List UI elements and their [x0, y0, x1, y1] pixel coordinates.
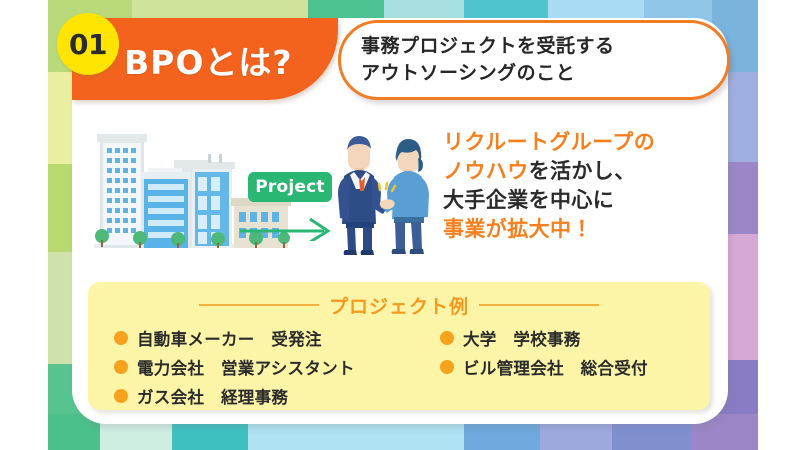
examples-right-column: 大学 学校事務 ビル管理会社 総合受付	[440, 324, 702, 382]
heading-rule-left	[199, 304, 319, 306]
list-item-label: 自動車メーカー 受発注	[137, 326, 322, 350]
paragraph-line-1: リクルートグループの	[443, 128, 721, 157]
right-arrow-icon	[238, 215, 338, 241]
paragraph-line-2: ノウハウを活かし、	[443, 157, 721, 186]
list-item-label: ビル管理会社 総合受付	[463, 355, 648, 379]
list-item-label: 電力会社 営業アシスタント	[137, 355, 355, 379]
list-item: ガス会社 経理事務	[114, 382, 444, 409]
section-number-badge: 01	[57, 13, 119, 75]
bullet-icon	[114, 360, 128, 374]
page-title: BPOとは?	[124, 32, 334, 88]
paragraph-line-2-dark: を活かし、	[529, 159, 636, 183]
list-item-label: ガス会社 経理事務	[137, 384, 288, 408]
project-badge: Project	[248, 172, 332, 202]
project-examples-box: プロジェクト例 自動車メーカー 受発注 電力会社 営業アシスタント ガス会社 経…	[88, 282, 710, 410]
bullet-icon	[440, 331, 454, 345]
subtitle-line-1: 事務プロジェクトを受託する	[361, 33, 727, 60]
paragraph-line-3: 大手企業を中心に	[443, 186, 721, 215]
subtitle-pill: 事務プロジェクトを受託する アウトソーシングのこと	[338, 20, 730, 100]
paragraph-line-2-orange: ノウハウ	[443, 159, 529, 183]
description-paragraph: リクルートグループの ノウハウを活かし、 大手企業を中心に 事業が拡大中！	[443, 128, 721, 244]
examples-heading: プロジェクト例	[88, 292, 710, 318]
paragraph-line-4: 事業が拡大中！	[443, 215, 721, 244]
paragraph-line-4-orange: 事業が拡大中！	[443, 217, 593, 241]
bullet-icon	[114, 331, 128, 345]
list-item: ビル管理会社 総合受付	[440, 353, 702, 380]
bullet-icon	[440, 360, 454, 374]
examples-left-column: 自動車メーカー 受発注 電力会社 営業アシスタント ガス会社 経理事務	[114, 324, 444, 411]
bullet-icon	[114, 389, 128, 403]
list-item: 大学 学校事務	[440, 324, 702, 351]
examples-heading-text: プロジェクト例	[329, 292, 469, 319]
slide-canvas: BPOとは? 01 事務プロジェクトを受託する アウトソーシングのこと	[0, 0, 800, 450]
paragraph-line-3-dark: 大手企業を中心に	[443, 188, 614, 212]
list-item-label: 大学 学校事務	[463, 326, 581, 350]
paragraph-line-1-orange: リクルートグループの	[443, 130, 655, 154]
heading-rule-right	[479, 304, 599, 306]
list-item: 自動車メーカー 受発注	[114, 324, 444, 351]
subtitle-line-2: アウトソーシングのこと	[361, 60, 727, 87]
handshake-businesspeople-icon	[326, 128, 442, 263]
list-item: 電力会社 営業アシスタント	[114, 353, 444, 380]
